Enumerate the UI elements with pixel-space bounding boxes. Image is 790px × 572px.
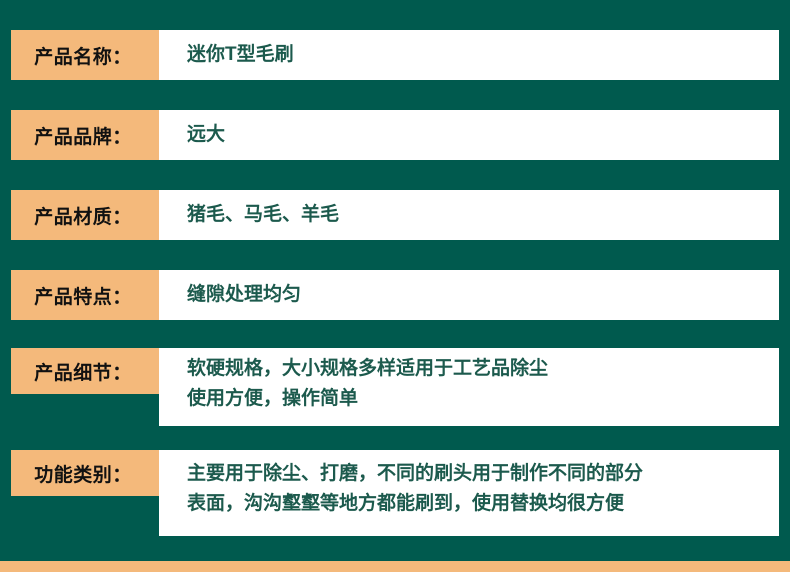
spec-row-inner: 产品材质： 猪毛、马毛、羊毛 bbox=[11, 190, 779, 240]
spec-label-product-feature: 产品特点： bbox=[11, 270, 159, 320]
spec-row: 产品品牌： 远大 bbox=[11, 110, 779, 160]
spec-value-line: 缝隙处理均匀 bbox=[187, 280, 779, 310]
bottom-accent-bar bbox=[0, 561, 790, 572]
spec-row-inner: 产品名称： 迷你T型毛刷 bbox=[11, 30, 779, 80]
spec-value-product-material: 猪毛、马毛、羊毛 bbox=[159, 190, 779, 240]
spec-label-function-category: 功能类别： bbox=[11, 450, 159, 496]
spec-value-line: 迷你T型毛刷 bbox=[187, 40, 779, 70]
spec-value-line: 主要用于除尘、打磨，不同的刷头用于制作不同的部分 bbox=[187, 459, 779, 489]
spec-value-product-name: 迷你T型毛刷 bbox=[159, 30, 779, 80]
spec-row-inner: 功能类别： 主要用于除尘、打磨，不同的刷头用于制作不同的部分 表面，沟沟壑壑等地… bbox=[11, 450, 779, 536]
spec-value-line: 使用方便，操作简单 bbox=[187, 384, 779, 414]
spec-row: 功能类别： 主要用于除尘、打磨，不同的刷头用于制作不同的部分 表面，沟沟壑壑等地… bbox=[11, 450, 779, 536]
spec-row: 产品材质： 猪毛、马毛、羊毛 bbox=[11, 190, 779, 240]
spec-label-product-brand: 产品品牌： bbox=[11, 110, 159, 160]
spec-row-inner: 产品品牌： 远大 bbox=[11, 110, 779, 160]
spec-value-function-category: 主要用于除尘、打磨，不同的刷头用于制作不同的部分 表面，沟沟壑壑等地方都能刷到，… bbox=[159, 450, 779, 536]
product-spec-sheet: 产品名称： 迷你T型毛刷 产品品牌： 远大 产品材质： 猪毛、马毛、羊毛 产品特… bbox=[0, 0, 790, 572]
spec-value-line: 表面，沟沟壑壑等地方都能刷到，使用替换均很方便 bbox=[187, 489, 779, 519]
spec-label-product-name: 产品名称： bbox=[11, 30, 159, 80]
spec-row-inner: 产品特点： 缝隙处理均匀 bbox=[11, 270, 779, 320]
spec-row: 产品细节： 软硬规格，大小规格多样适用于工艺品除尘 使用方便，操作简单 bbox=[11, 348, 779, 426]
spec-row-inner: 产品细节： 软硬规格，大小规格多样适用于工艺品除尘 使用方便，操作简单 bbox=[11, 348, 779, 426]
spec-value-product-feature: 缝隙处理均匀 bbox=[159, 270, 779, 320]
spec-row: 产品特点： 缝隙处理均匀 bbox=[11, 270, 779, 320]
spec-value-line: 猪毛、马毛、羊毛 bbox=[187, 200, 779, 230]
spec-value-line: 远大 bbox=[187, 120, 779, 150]
spec-label-product-material: 产品材质： bbox=[11, 190, 159, 240]
spec-label-product-detail: 产品细节： bbox=[11, 348, 159, 394]
spec-row: 产品名称： 迷你T型毛刷 bbox=[11, 30, 779, 80]
spec-value-product-brand: 远大 bbox=[159, 110, 779, 160]
spec-value-product-detail: 软硬规格，大小规格多样适用于工艺品除尘 使用方便，操作简单 bbox=[159, 348, 779, 426]
spec-value-line: 软硬规格，大小规格多样适用于工艺品除尘 bbox=[187, 354, 779, 384]
